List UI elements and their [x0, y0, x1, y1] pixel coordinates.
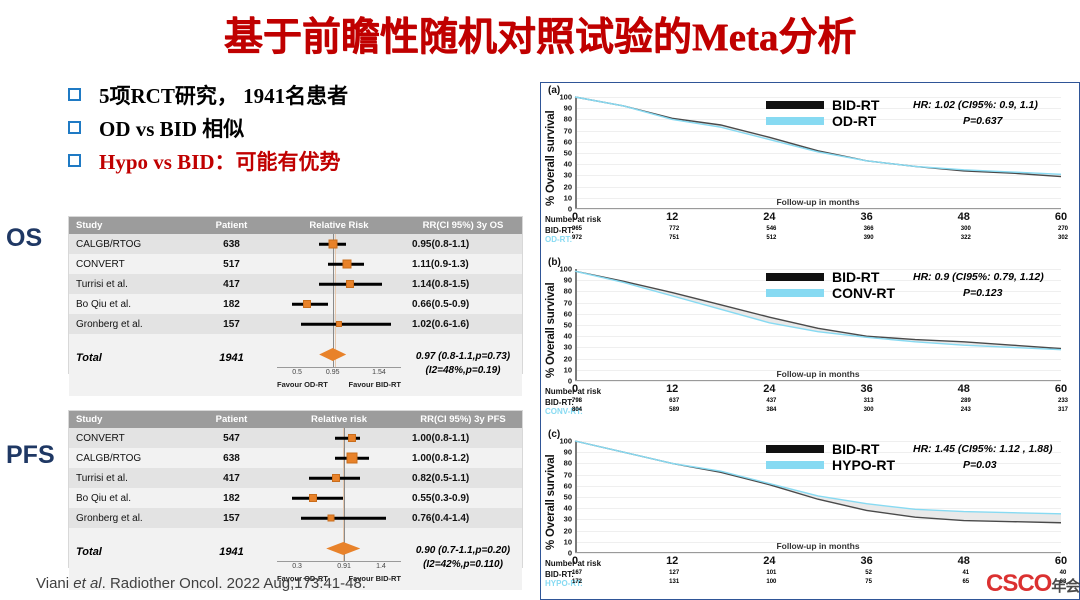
- study-name: CALGB/RTOG: [69, 239, 189, 250]
- section-label-os: OS: [6, 224, 42, 253]
- bullet-item: Hypo vs BID：可能有优势: [68, 146, 538, 175]
- page-title: 基于前瞻性随机对照试验的Meta分析: [0, 6, 1080, 62]
- total-summary-stats: 0.90 (0.7-1.1,p=0.20)(I2=42%,p=0.110): [404, 528, 522, 590]
- citation-source: . Radiother Oncol. 2022 Aug;173:41-48.: [102, 575, 366, 592]
- km-panel-b: (b)% Overall survival0102030405060708090…: [541, 255, 1080, 427]
- y-axis-tick: 10: [564, 537, 572, 546]
- column-header: Patient: [189, 220, 274, 231]
- confidence-interval-bar: [301, 323, 391, 326]
- pooled-estimate: 0.90 (0.7-1.1,p=0.20): [404, 544, 522, 558]
- risk-ratio-label: 1.11(0.9-1.3): [404, 259, 522, 270]
- x-axis-tick: 1.4: [376, 563, 386, 570]
- number-at-risk-value: 270: [1058, 226, 1068, 232]
- table-header: StudyPatientRelative riskRR(CI 95%) 3y P…: [69, 411, 522, 428]
- forest-row-plot: [274, 314, 404, 334]
- table-row: CALGB/RTOG6381.00(0.8-1.2): [69, 448, 522, 468]
- x-axis-tick: 0.91: [337, 563, 351, 570]
- y-axis-tick: 40: [564, 504, 572, 513]
- legend-item: BID-RT: [766, 97, 879, 113]
- bullet-list: 5项RCT研究， 1941名患者OD vs BID 相似Hypo vs BID：…: [68, 80, 538, 179]
- y-axis-tick: 80: [564, 459, 572, 468]
- y-axis-tick: 60: [564, 137, 572, 146]
- x-axis-tick: 0.5: [292, 369, 302, 376]
- forest-row-plot: [274, 274, 404, 294]
- total-summary-stats: 0.97 (0.8-1.1,p=0.73)(I2=48%,p=0.19): [404, 334, 522, 396]
- number-at-risk-value: 512: [766, 235, 776, 241]
- legend-label: BID-RT: [832, 97, 879, 113]
- column-header: Relative risk: [274, 414, 404, 425]
- legend-swatch: [766, 117, 824, 125]
- number-at-risk-row: OD-RT:972751512390322302: [545, 235, 1080, 243]
- study-name: Bo Qiu et al.: [69, 299, 189, 310]
- y-axis-tick: 20: [564, 354, 572, 363]
- risk-ratio-label: 0.82(0.5-1.1): [404, 473, 522, 484]
- legend-label: BID-RT: [832, 441, 879, 457]
- effect-estimate-marker: [332, 474, 340, 482]
- legend-swatch: [766, 101, 824, 109]
- number-at-risk-value: 52: [865, 570, 872, 576]
- risk-ratio-label: 1.00(0.8-1.1): [404, 433, 522, 444]
- square-outline-icon: [68, 154, 81, 167]
- number-at-risk-value: 972: [572, 235, 582, 241]
- number-at-risk-value: 289: [961, 398, 971, 404]
- patient-count: 638: [189, 453, 274, 464]
- legend-item: OD-RT: [766, 113, 879, 129]
- patient-count: 417: [189, 473, 274, 484]
- confidence-interval-bar: [292, 497, 343, 500]
- number-at-risk-row: BID-RT:798637437313289233: [545, 398, 1080, 406]
- p-value-text: P=0.123: [963, 287, 1002, 299]
- y-axis-tick: 50: [564, 149, 572, 158]
- forest-row-plot: [274, 468, 404, 488]
- number-at-risk-value: 167: [572, 570, 582, 576]
- legend-label: OD-RT: [832, 113, 876, 129]
- forest-row-plot: [274, 488, 404, 508]
- panel-tag: (a): [548, 85, 560, 96]
- number-at-risk-value: 127: [669, 570, 679, 576]
- x-axis-line: [277, 561, 401, 562]
- bullet-label: OD vs BID 相似: [99, 113, 244, 143]
- bullet-label: 5项RCT研究， 1941名患者: [99, 80, 348, 110]
- citation-etal: et al: [73, 575, 101, 592]
- citation: Viani et al. Radiother Oncol. 2022 Aug;1…: [36, 575, 366, 592]
- x-axis-tick: 1.54: [372, 369, 386, 376]
- effect-estimate-marker: [346, 280, 354, 288]
- citation-author: Viani: [36, 575, 73, 592]
- legend-swatch: [766, 289, 824, 297]
- csco-logo: CSCO年会: [986, 570, 1079, 598]
- table-row: Turrisi et al.4171.14(0.8-1.5): [69, 274, 522, 294]
- forest-plot-pfs: StudyPatientRelative riskRR(CI 95%) 3y P…: [68, 410, 523, 568]
- effect-estimate-marker: [348, 434, 356, 442]
- study-name: CONVERT: [69, 433, 189, 444]
- risk-ratio-label: 1.02(0.6-1.6): [404, 319, 522, 330]
- study-name: Bo Qiu et al.: [69, 493, 189, 504]
- number-at-risk-group: BID-RT:: [545, 570, 574, 579]
- number-at-risk-value: 437: [766, 398, 776, 404]
- number-at-risk-value: 172: [572, 579, 582, 585]
- y-axis-label: % Overall survival: [545, 447, 561, 557]
- legend-label: HYPO-RT: [832, 457, 895, 473]
- y-axis-tick: 10: [564, 193, 572, 202]
- section-label-pfs: PFS: [6, 441, 55, 470]
- effect-estimate-marker: [343, 260, 352, 269]
- y-axis-tick: 50: [564, 321, 572, 330]
- number-at-risk-row: CONV-RT:804589384300243317: [545, 407, 1080, 415]
- x-axis-caption: Follow-up in months: [776, 197, 859, 207]
- column-header: RR(CI 95%) 3y PFS: [404, 414, 522, 425]
- logo-text: CSCO: [986, 570, 1051, 597]
- legend: BID-RTOD-RT: [766, 97, 879, 129]
- number-at-risk-group: BID-RT:: [545, 398, 574, 407]
- risk-ratio-label: 1.00(0.8-1.2): [404, 453, 522, 464]
- number-at-risk-value: 384: [766, 407, 776, 413]
- total-patient-count: 1941: [189, 334, 274, 396]
- patient-count: 182: [189, 493, 274, 504]
- y-axis-tick: 30: [564, 515, 572, 524]
- number-at-risk-value: 390: [864, 235, 874, 241]
- y-axis-label: % Overall survival: [545, 275, 561, 385]
- y-axis-tick: 50: [564, 493, 572, 502]
- column-header: Study: [69, 414, 189, 425]
- study-name: Turrisi et al.: [69, 279, 189, 290]
- number-at-risk-value: 589: [669, 407, 679, 413]
- y-axis-tick: 100: [559, 265, 572, 274]
- number-at-risk-value: 131: [669, 579, 679, 585]
- favour-right-label: Favour BID-RT: [349, 380, 402, 389]
- number-at-risk-value: 100: [766, 579, 776, 585]
- effect-estimate-marker: [328, 240, 337, 249]
- table-row: CONVERT5471.00(0.8-1.1): [69, 428, 522, 448]
- bullet-item: OD vs BID 相似: [68, 113, 538, 142]
- effect-estimate-marker: [336, 321, 342, 327]
- x-axis-line: [277, 367, 401, 368]
- study-name: CONVERT: [69, 259, 189, 270]
- null-line: [333, 294, 334, 314]
- legend-label: BID-RT: [832, 269, 879, 285]
- x-axis-caption: Follow-up in months: [776, 369, 859, 379]
- km-curves-figure: (a)% Overall survival0102030405060708090…: [540, 82, 1080, 600]
- y-axis-tick: 40: [564, 332, 572, 341]
- y-axis-tick: 20: [564, 182, 572, 191]
- number-at-risk-value: 302: [1058, 235, 1068, 241]
- number-at-risk-value: 772: [669, 226, 679, 232]
- hazard-ratio-text: HR: 0.9 (CI95%: 0.79, 1.12): [913, 271, 1044, 283]
- risk-ratio-label: 0.76(0.4-1.4): [404, 513, 522, 524]
- risk-ratio-label: 1.14(0.8-1.5): [404, 279, 522, 290]
- legend-label: CONV-RT: [832, 285, 895, 301]
- risk-ratio-label: 0.66(0.5-0.9): [404, 299, 522, 310]
- pooled-line: [335, 294, 336, 314]
- number-at-risk-group: OD-RT:: [545, 235, 572, 244]
- table-row: Turrisi et al.4170.82(0.5-1.1): [69, 468, 522, 488]
- number-at-risk-value: 804: [572, 407, 582, 413]
- number-at-risk-value: 965: [572, 226, 582, 232]
- patient-count: 517: [189, 259, 274, 270]
- x-axis-tick: 0.3: [292, 563, 302, 570]
- effect-estimate-marker: [346, 453, 357, 464]
- number-at-risk-title: Number at risk: [545, 215, 601, 224]
- study-name: Gronberg et al.: [69, 513, 189, 524]
- table-row: CALGB/RTOG6380.95(0.8-1.1): [69, 234, 522, 254]
- table-row: Gronberg et al.1571.02(0.6-1.6): [69, 314, 522, 334]
- y-axis-tick: 90: [564, 104, 572, 113]
- number-at-risk-value: 751: [669, 235, 679, 241]
- y-axis-tick: 100: [559, 93, 572, 102]
- number-at-risk-title: Number at risk: [545, 559, 601, 568]
- square-outline-icon: [68, 121, 81, 134]
- y-axis-tick: 100: [559, 437, 572, 446]
- forest-row-plot: [274, 294, 404, 314]
- y-axis-tick: 60: [564, 309, 572, 318]
- patient-count: 417: [189, 279, 274, 290]
- legend-item: BID-RT: [766, 441, 895, 457]
- forest-summary-plot: 0.50.951.54Favour OD-RTFavour BID-RT: [274, 334, 404, 396]
- table-header: StudyPatientRelative RiskRR(CI 95%) 3y O…: [69, 217, 522, 234]
- number-at-risk-group: BID-RT:: [545, 226, 574, 235]
- number-at-risk-value: 101: [766, 570, 776, 576]
- y-axis-tick: 90: [564, 276, 572, 285]
- effect-estimate-marker: [309, 494, 317, 502]
- y-axis-tick: 90: [564, 448, 572, 457]
- y-axis-tick: 10: [564, 365, 572, 374]
- gridline: [575, 381, 1061, 382]
- effect-estimate-marker: [303, 300, 311, 308]
- legend-swatch: [766, 445, 824, 453]
- study-name: Turrisi et al.: [69, 473, 189, 484]
- hazard-ratio-text: HR: 1.02 (CI95%: 0.9, 1.1): [913, 99, 1038, 111]
- column-header: Study: [69, 220, 189, 231]
- number-at-risk-title: Number at risk: [545, 387, 601, 396]
- favour-left-label: Favour OD-RT: [277, 380, 328, 389]
- square-outline-icon: [68, 88, 81, 101]
- x-axis-tick: 0.95: [326, 369, 340, 376]
- forest-row-plot: [274, 254, 404, 274]
- null-line: [344, 488, 345, 508]
- patient-count: 638: [189, 239, 274, 250]
- hazard-ratio-text: HR: 1.45 (CI95%: 1.12 , 1.88): [913, 443, 1052, 455]
- legend-item: CONV-RT: [766, 285, 895, 301]
- legend: BID-RTCONV-RT: [766, 269, 895, 301]
- pooled-diamond: [319, 348, 346, 361]
- legend-swatch: [766, 273, 824, 281]
- number-at-risk-value: 637: [669, 398, 679, 404]
- patient-count: 182: [189, 299, 274, 310]
- pooled-estimate: 0.97 (0.8-1.1,p=0.73): [404, 350, 522, 364]
- y-axis-tick: 60: [564, 481, 572, 490]
- y-axis-label: % Overall survival: [545, 103, 561, 213]
- table-row: CONVERT5171.11(0.9-1.3): [69, 254, 522, 274]
- legend: BID-RTHYPO-RT: [766, 441, 895, 473]
- number-at-risk-value: 798: [572, 398, 582, 404]
- legend-item: HYPO-RT: [766, 457, 895, 473]
- heterogeneity-stat: (I2=42%,p=0.110): [404, 558, 522, 572]
- bullet-item: 5项RCT研究， 1941名患者: [68, 80, 538, 109]
- y-axis-tick: 40: [564, 160, 572, 169]
- y-axis-tick: 70: [564, 470, 572, 479]
- patient-count: 547: [189, 433, 274, 444]
- forest-row-plot: [274, 508, 404, 528]
- forest-row-plot: [274, 448, 404, 468]
- forest-plot-os: StudyPatientRelative RiskRR(CI 95%) 3y O…: [68, 216, 523, 374]
- study-name: Gronberg et al.: [69, 319, 189, 330]
- number-at-risk-value: 313: [864, 398, 874, 404]
- column-header: RR(CI 95%) 3y OS: [404, 220, 522, 231]
- table-row: Bo Qiu et al.1820.66(0.5-0.9): [69, 294, 522, 314]
- number-at-risk-row: BID-RT:965772546366300270: [545, 226, 1080, 234]
- gridline: [575, 209, 1061, 210]
- table-total-row: Total19410.50.951.54Favour OD-RTFavour B…: [69, 334, 522, 396]
- number-at-risk-value: 300: [961, 226, 971, 232]
- number-at-risk-value: 233: [1058, 398, 1068, 404]
- number-at-risk-table: Number at riskBID-RT:965772546366300270O…: [541, 215, 1080, 253]
- forest-row-plot: [274, 234, 404, 254]
- y-axis-tick: 80: [564, 287, 572, 296]
- number-at-risk-value: 243: [961, 407, 971, 413]
- slide-root: 基于前瞻性随机对照试验的Meta分析 5项RCT研究， 1941名患者OD vs…: [0, 0, 1080, 600]
- number-at-risk-value: 322: [961, 235, 971, 241]
- effect-estimate-marker: [328, 515, 335, 522]
- number-at-risk-value: 75: [865, 579, 872, 585]
- km-panel-a: (a)% Overall survival0102030405060708090…: [541, 83, 1080, 255]
- y-axis-tick: 20: [564, 526, 572, 535]
- y-axis-tick: 80: [564, 115, 572, 124]
- risk-ratio-label: 0.55(0.3-0.9): [404, 493, 522, 504]
- p-value-text: P=0.637: [963, 115, 1002, 127]
- total-label: Total: [69, 334, 189, 396]
- y-axis-tick: 70: [564, 298, 572, 307]
- number-at-risk-value: 65: [962, 579, 969, 585]
- number-at-risk-value: 41: [962, 570, 969, 576]
- gridline: [575, 553, 1061, 554]
- column-header: Patient: [189, 414, 274, 425]
- number-at-risk-value: 546: [766, 226, 776, 232]
- panel-tag: (c): [548, 429, 560, 440]
- number-at-risk-value: 366: [864, 226, 874, 232]
- legend-swatch: [766, 461, 824, 469]
- patient-count: 157: [189, 319, 274, 330]
- table-row: Bo Qiu et al.1820.55(0.3-0.9): [69, 488, 522, 508]
- legend-item: BID-RT: [766, 269, 895, 285]
- risk-ratio-label: 0.95(0.8-1.1): [404, 239, 522, 250]
- number-at-risk-table: Number at riskBID-RT:798637437313289233C…: [541, 387, 1080, 425]
- logo-tail: 年会: [1051, 578, 1079, 595]
- p-value-text: P=0.03: [963, 459, 997, 471]
- number-at-risk-value: 317: [1058, 407, 1068, 413]
- y-axis-tick: 30: [564, 343, 572, 352]
- confidence-interval-bar: [301, 517, 386, 520]
- number-at-risk-value: 300: [864, 407, 874, 413]
- pooled-diamond: [326, 542, 360, 555]
- x-axis-caption: Follow-up in months: [776, 541, 859, 551]
- column-header: Relative Risk: [274, 220, 404, 231]
- forest-row-plot: [274, 428, 404, 448]
- heterogeneity-stat: (I2=48%,p=0.19): [404, 364, 522, 378]
- study-name: CALGB/RTOG: [69, 453, 189, 464]
- y-axis-tick: 70: [564, 126, 572, 135]
- table-row: Gronberg et al.1570.76(0.4-1.4): [69, 508, 522, 528]
- bullet-label: Hypo vs BID：可能有优势: [99, 146, 341, 176]
- y-axis-tick: 30: [564, 171, 572, 180]
- patient-count: 157: [189, 513, 274, 524]
